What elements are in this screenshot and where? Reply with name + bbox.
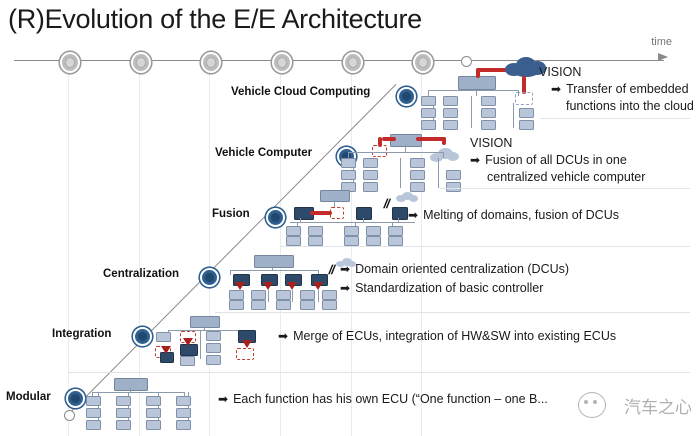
stage-label-centralization: Centralization [103,268,179,280]
stage-label-vehicle-computer: Vehicle Computer [215,147,312,159]
slide-canvas: (R)Evolution of the E/E Architecture tim… [0,0,700,436]
watermark-logo-icon [578,392,606,418]
bullet-vc-1: ➡Fusion of all DCUs in one [470,153,627,167]
stage-label-integration: Integration [52,328,111,340]
vision-heading-1: VISION [539,65,581,79]
axis-tick [272,52,292,73]
arrow-icon: ➡ [551,82,561,96]
arrow-icon: ➡ [408,208,418,222]
stage-node-centralization[interactable] [200,268,219,287]
bullet-central-2: ➡Standardization of basic controller [340,281,543,295]
axis-tick [343,52,363,73]
stage-label-fusion: Fusion [212,208,250,220]
stage-node-fusion[interactable] [266,208,285,227]
vision-heading-2: VISION [470,136,512,150]
time-axis-line [14,60,664,61]
stage-node-modular[interactable] [66,389,85,408]
time-axis-label: time [651,36,672,48]
arrow-icon: ➡ [278,329,288,343]
time-axis-arrow-icon [658,53,668,61]
evolution-diagonal-line [68,84,397,415]
grid-line [68,58,69,436]
axis-tick [60,52,80,73]
stage-label-modular: Modular [6,391,51,403]
break-symbol-icon: // [382,196,390,211]
bullet-vc-2: centralized vehicle computer [487,170,645,184]
axis-tick [413,52,433,73]
grid-line [280,58,281,436]
axis-tick [201,52,221,73]
axis-tick [131,52,151,73]
stage-node-integration[interactable] [133,327,152,346]
watermark-text: 汽车之心 [624,393,692,418]
cloud-icon-grey-2 [396,192,418,202]
cloud-icon-grey [430,148,460,162]
bullet-cloud-1: ➡Transfer of embedded [551,82,689,96]
break-symbol-icon: // [327,262,335,277]
arrow-icon: ➡ [340,262,350,276]
bullet-integration-1: ➡Merge of ECUs, integration of HW&SW int… [278,329,616,343]
stage-node-vehicle-cloud-computing[interactable] [397,87,416,106]
bullet-fusion-1: ➡Melting of domains, fusion of DCUs [408,208,619,222]
axis-tick-hollow [461,56,472,67]
bullet-modular-1: ➡Each function has his own ECU (“One fun… [218,392,548,406]
bullet-cloud-2: functions into the cloud [566,99,694,113]
arrow-icon: ➡ [218,392,228,406]
arrow-icon: ➡ [340,281,350,295]
arrow-icon: ➡ [470,153,480,167]
diagonal-origin-dot [64,410,75,421]
bullet-central-1: ➡Domain oriented centralization (DCUs) [340,262,569,276]
page-title: (R)Evolution of the E/E Architecture [8,4,422,35]
grid-line [209,58,210,436]
watermark: 汽车之心 [574,382,694,424]
stage-label-vehicle-cloud-computing: Vehicle Cloud Computing [231,86,370,98]
grid-line [351,58,352,436]
